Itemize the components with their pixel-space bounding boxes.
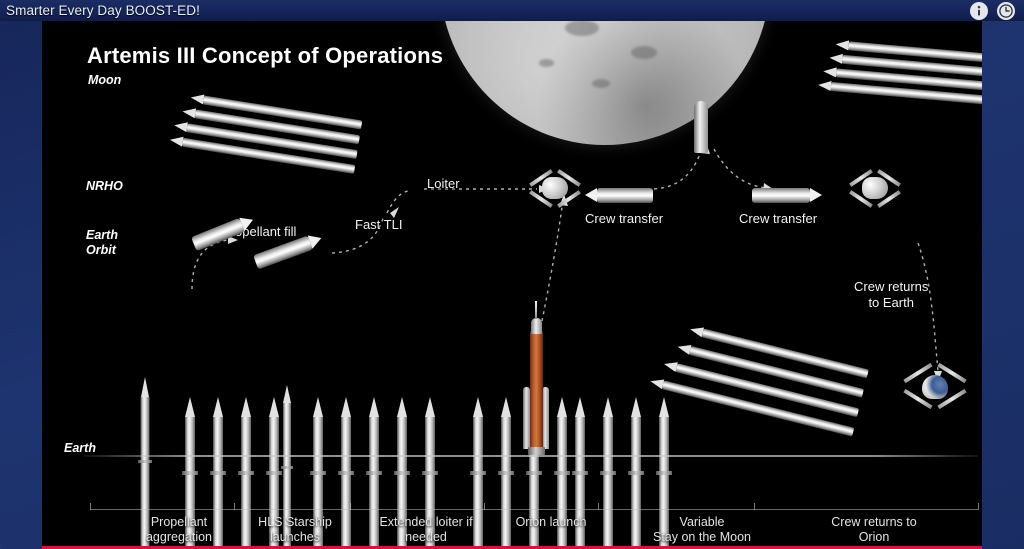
orbit-label-nrho: NRHO bbox=[86, 179, 123, 194]
page-title: Artemis III Concept of Operations bbox=[87, 43, 443, 69]
timeline-phase: HLS Starship launches bbox=[232, 515, 358, 546]
earth-ground-line bbox=[84, 455, 978, 457]
orbit-label-earth-orbit-line1: Earth bbox=[86, 228, 118, 242]
timeline-phase-line1: Propellant bbox=[151, 515, 207, 529]
browser-title-bar: Smarter Every Day BOOST-ED! bbox=[0, 0, 1024, 21]
timeline-phase: Variable Stay on the Moon bbox=[622, 515, 782, 546]
timeline-phase-line2: aggregation bbox=[146, 530, 212, 544]
hls-lander-at-moon bbox=[694, 101, 708, 153]
flow-label-crew-returns-to-earth: Crew returns to Earth bbox=[854, 279, 928, 310]
timeline-phase: Extended loiter if needed bbox=[352, 515, 500, 546]
timeline-tick bbox=[350, 503, 351, 510]
starship-cluster-upper-right bbox=[829, 38, 982, 120]
timeline-phase-line2: needed bbox=[405, 530, 447, 544]
timeline-tick bbox=[484, 503, 485, 510]
flow-label-loiter: Loiter bbox=[427, 176, 460, 192]
timeline-phase: Propellant aggregation bbox=[120, 515, 238, 546]
timeline-phase: Orion launch bbox=[490, 515, 612, 530]
video-player-stage[interactable]: Artemis III Concept of Operations Moon N… bbox=[42, 21, 982, 549]
timeline-phase-line1: HLS Starship bbox=[258, 515, 332, 529]
timeline-phase-line1: Variable bbox=[680, 515, 725, 529]
orbit-label-earth-orbit-line2: Orbit bbox=[86, 243, 116, 257]
timeline-tick bbox=[978, 503, 979, 510]
timeline-phase-line2: launches bbox=[270, 530, 320, 544]
propellant-tanker-1 bbox=[191, 218, 245, 251]
crew-returns-line2: to Earth bbox=[868, 295, 914, 310]
orion-spacecraft-nrho-left bbox=[532, 171, 580, 207]
video-title: Smarter Every Day BOOST-ED! bbox=[0, 3, 200, 18]
orion-spacecraft-return bbox=[904, 361, 966, 413]
mission-phase-timeline: Propellant aggregation HLS Starship laun… bbox=[42, 515, 982, 549]
timeline-tick bbox=[754, 503, 755, 510]
timeline-axis bbox=[90, 509, 978, 510]
moon-graphic bbox=[440, 21, 770, 145]
artemis-conops-slide: Artemis III Concept of Operations Moon N… bbox=[42, 21, 982, 549]
timeline-phase: Crew returns to Orion bbox=[794, 515, 954, 546]
timeline-tick bbox=[234, 503, 235, 510]
timeline-tick bbox=[598, 503, 599, 510]
timeline-tick bbox=[90, 503, 91, 510]
watch-later-clock-icon[interactable] bbox=[997, 2, 1015, 20]
propellant-tanker-2 bbox=[253, 236, 313, 270]
timeline-phase-line1: Crew returns to bbox=[831, 515, 916, 529]
flow-label-crew-transfer-2: Crew transfer bbox=[739, 211, 817, 227]
flow-label-crew-transfer-1: Crew transfer bbox=[585, 211, 663, 227]
info-icon[interactable] bbox=[970, 2, 988, 20]
orbit-label-earth-orbit: Earth Orbit bbox=[86, 228, 118, 258]
orion-spacecraft-nrho-right bbox=[852, 171, 900, 207]
starship-cluster-nrho-left bbox=[179, 91, 368, 190]
starship-cluster-lower-right bbox=[655, 320, 873, 465]
crew-returns-line1: Crew returns bbox=[854, 279, 928, 294]
flow-label-fast-tli: Fast TLI bbox=[355, 217, 402, 233]
crew-transfer-vehicle-1 bbox=[597, 188, 653, 203]
sls-orion-launch-vehicle bbox=[521, 310, 551, 455]
timeline-phase-line1: Orion launch bbox=[516, 515, 587, 529]
orbit-label-earth: Earth bbox=[64, 441, 96, 456]
timeline-phase-line2: Orion bbox=[859, 530, 890, 544]
orbit-label-moon: Moon bbox=[88, 73, 121, 88]
crew-transfer-vehicle-2 bbox=[752, 188, 810, 203]
timeline-phase-line1: Extended loiter if bbox=[379, 515, 472, 529]
timeline-phase-line2: Stay on the Moon bbox=[653, 530, 751, 544]
